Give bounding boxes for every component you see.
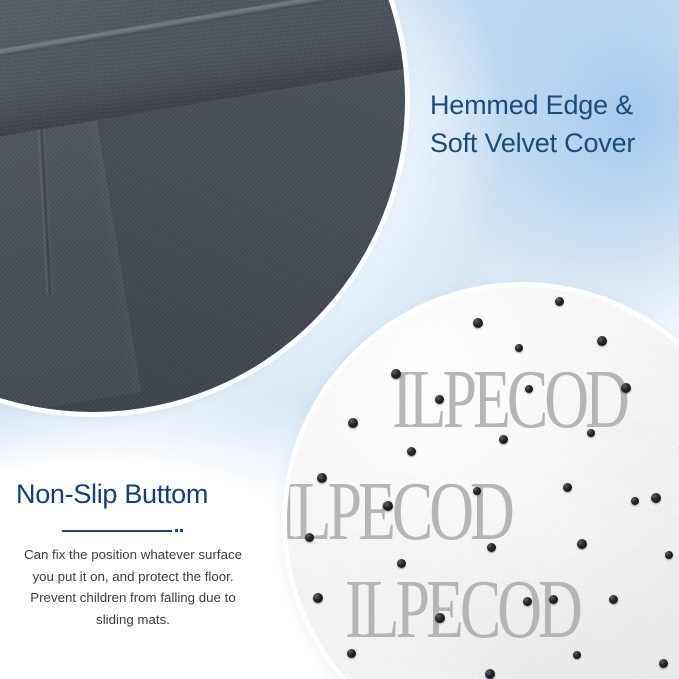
grip-dot xyxy=(348,418,358,428)
grip-dot xyxy=(487,543,496,552)
grip-dot xyxy=(577,539,587,549)
grip-dot xyxy=(651,493,661,503)
fabric-surface: ILPECOD ILPECOD ILPECOD xyxy=(287,287,679,679)
divider-dot xyxy=(180,529,183,532)
product-feature-poster: ILPECOD ILPECOD ILPECOD Hemmed Edge & So… xyxy=(0,0,679,679)
divider-dot xyxy=(175,529,178,532)
heading-line-2: Soft Velvet Cover xyxy=(430,124,674,162)
grip-dot xyxy=(621,383,631,393)
grip-dot xyxy=(587,429,595,437)
background-blue-wash xyxy=(439,0,679,330)
grip-dot xyxy=(397,559,406,568)
divider-line xyxy=(62,530,172,532)
grip-dot xyxy=(473,318,483,328)
grip-dot xyxy=(631,497,639,505)
non-slip-fabric-photo-circle: ILPECOD ILPECOD ILPECOD xyxy=(287,287,679,679)
grip-dot xyxy=(313,593,323,603)
heading-divider xyxy=(8,520,258,542)
grip-dot xyxy=(515,344,523,352)
grip-dot xyxy=(563,483,572,492)
feature-heading-hemmed-edge: Hemmed Edge & Soft Velvet Cover xyxy=(430,86,674,163)
feature-description-text: Can fix the position whatever surface yo… xyxy=(8,544,258,630)
grip-dot xyxy=(555,297,564,306)
grip-dot xyxy=(435,613,445,623)
feature-block-non-slip: Non-Slip Buttom Can fix the position wha… xyxy=(8,478,258,631)
divider-trailing-dots xyxy=(175,529,183,532)
grip-dot xyxy=(499,435,508,444)
grip-dot xyxy=(597,336,607,346)
grip-dot xyxy=(573,651,581,659)
grip-dot xyxy=(523,597,532,606)
grip-dot xyxy=(435,395,444,404)
grip-dot xyxy=(391,369,401,379)
grip-dot xyxy=(407,447,416,456)
grip-dot xyxy=(659,659,668,668)
grip-dot xyxy=(383,501,393,511)
grip-dot xyxy=(485,669,495,679)
grip-dot xyxy=(609,595,618,604)
grip-dot xyxy=(525,385,533,393)
grip-dot xyxy=(305,533,314,542)
feature-heading-non-slip: Non-Slip Buttom xyxy=(8,478,258,510)
heading-line-1: Hemmed Edge & xyxy=(430,90,633,120)
grip-dot xyxy=(549,595,558,604)
grip-dot xyxy=(317,473,327,483)
grip-dot xyxy=(347,649,356,658)
grip-dot xyxy=(639,305,648,314)
grip-dot xyxy=(665,551,673,559)
grip-dot xyxy=(473,487,481,495)
brand-watermark: ILPECOD xyxy=(345,563,579,659)
